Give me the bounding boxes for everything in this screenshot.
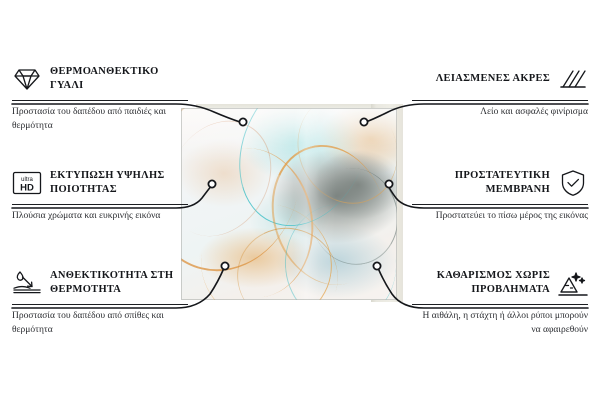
feature-divider xyxy=(12,100,188,101)
feature-divider xyxy=(412,204,588,205)
infographic-canvas: ΘΕΡΜΟΑΝΘΕΚΤΙΚΟ ΓΥΑΛΙ Προστασία του δαπέδ… xyxy=(0,0,600,400)
feature-divider xyxy=(412,100,588,101)
feature-header: ultra HD ΕΚΤΥΠΩΣΗ ΥΨΗΛΗΣ ΠΟΙΟΤΗΤΑΣ xyxy=(12,166,188,200)
feature-header: ΠΡΟΣΤΑΤΕΥΤΙΚΗ ΜΕΜΒΡΑΝΗ xyxy=(412,166,588,200)
shield-check-icon xyxy=(558,168,588,198)
feature-title: ΕΚΤΥΠΩΣΗ ΥΨΗΛΗΣ ΠΟΙΟΤΗΤΑΣ xyxy=(50,169,188,197)
feature-description: Πλούσια χρώματα και ευκρινής εικόνα xyxy=(12,210,188,224)
feature-protective-membrane[interactable]: ΠΡΟΣΤΑΤΕΥΤΙΚΗ ΜΕΜΒΡΑΝΗ Προστατεύει το πί… xyxy=(412,166,588,224)
feature-smooth-edges[interactable]: ΛΕΙΑΣΜΕΝΕΣ ΑΚΡΕΣ Λείο και ασφαλές φινίρι… xyxy=(412,62,588,120)
feature-header: ΑΝΘΕΚΤΙΚΟΤΗΤΑ ΣΤΗ ΘΕΡΜΟΤΗΤΑ xyxy=(12,266,188,300)
feature-divider xyxy=(12,304,188,305)
marble-artwork-image xyxy=(181,108,397,300)
feature-description: Η αιθάλη, η στάχτη ή άλλοι ρύποι μπορούν… xyxy=(412,310,588,338)
product-photo xyxy=(181,108,397,300)
feature-title: ΛΕΙΑΣΜΕΝΕΣ ΑΚΡΕΣ xyxy=(412,72,550,86)
feature-divider xyxy=(412,304,588,305)
feature-divider xyxy=(12,204,188,205)
svg-text:HD: HD xyxy=(20,183,34,194)
feature-title: ΑΝΘΕΚΤΙΚΟΤΗΤΑ ΣΤΗ ΘΕΡΜΟΤΗΤΑ xyxy=(50,269,188,297)
flame-heat-resistance-icon xyxy=(12,268,42,298)
feature-easy-cleaning[interactable]: ΚΑΘΑΡΙΣΜΟΣ ΧΩΡΙΣ ΠΡΟΒΛΗΜΑΤΑ Η αιθάλη, η … xyxy=(412,266,588,338)
feature-description: Προστασία του δαπέδου από παιδιές και θε… xyxy=(12,106,188,134)
diamond-icon xyxy=(12,64,42,94)
feature-heat-resistant-glass[interactable]: ΘΕΡΜΟΑΝΘΕΚΤΙΚΟ ΓΥΑΛΙ Προστασία του δαπέδ… xyxy=(12,62,188,134)
feature-high-quality-print[interactable]: ultra HD ΕΚΤΥΠΩΣΗ ΥΨΗΛΗΣ ΠΟΙΟΤΗΤΑΣ Πλούσ… xyxy=(12,166,188,224)
feature-title: ΘΕΡΜΟΑΝΘΕΚΤΙΚΟ ΓΥΑΛΙ xyxy=(50,65,188,93)
easy-clean-sparkle-icon xyxy=(558,268,588,298)
feature-description: Λείο και ασφαλές φινίρισμα xyxy=(412,106,588,120)
feature-header: ΛΕΙΑΣΜΕΝΕΣ ΑΚΡΕΣ xyxy=(412,62,588,96)
feature-title: ΠΡΟΣΤΑΤΕΥΤΙΚΗ ΜΕΜΒΡΑΝΗ xyxy=(412,169,550,197)
feature-description: Προστασία του δαπέδου από σπίθες και θερ… xyxy=(12,310,188,338)
feature-title: ΚΑΘΑΡΙΣΜΟΣ ΧΩΡΙΣ ΠΡΟΒΛΗΜΑΤΑ xyxy=(412,269,550,297)
feature-header: ΘΕΡΜΟΑΝΘΕΚΤΙΚΟ ΓΥΑΛΙ xyxy=(12,62,188,96)
feature-header: ΚΑΘΑΡΙΣΜΟΣ ΧΩΡΙΣ ΠΡΟΒΛΗΜΑΤΑ xyxy=(412,266,588,300)
feature-heat-durability[interactable]: ΑΝΘΕΚΤΙΚΟΤΗΤΑ ΣΤΗ ΘΕΡΜΟΤΗΤΑ Προστασία το… xyxy=(12,266,188,338)
smooth-edges-icon xyxy=(558,64,588,94)
feature-description: Προστατεύει το πίσω μέρος της εικόνας xyxy=(412,210,588,224)
ultra-hd-icon: ultra HD xyxy=(12,168,42,198)
